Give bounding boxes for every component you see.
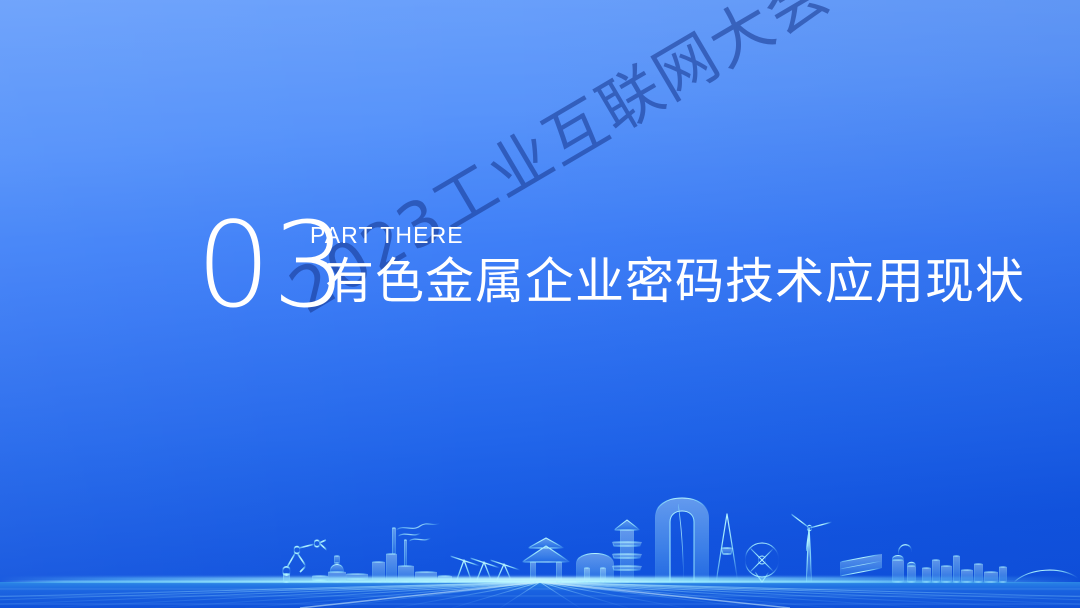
pagoda-icon [612, 512, 642, 582]
city-skyline-scene [0, 488, 1080, 608]
storage-tank-icon [892, 545, 916, 582]
gate-of-the-orient-icon [655, 498, 709, 582]
horizon-line [0, 581, 1080, 583]
bridge-icon [1014, 568, 1078, 582]
pavilion-icon [522, 538, 570, 582]
section-headline-block: 03 PART THERE 有色金属企业密码技术应用现状 [196, 206, 956, 316]
factory-icon [372, 523, 452, 582]
solar-panel-icon [840, 554, 882, 582]
oil-pumpjack-icon [450, 556, 520, 582]
section-title: 有色金属企业密码技术应用现状 [325, 255, 1025, 310]
tv-tower-icon [716, 500, 738, 582]
pipe-valve-icon [312, 556, 368, 582]
ferris-wheel-icon [745, 543, 779, 582]
part-label: PART THERE [310, 224, 464, 247]
wind-turbine-icon [791, 514, 832, 582]
dome-icon [576, 554, 614, 583]
city-buildings-icon [922, 556, 1007, 582]
presentation-slide: 2023工业互联网大会 03 PART THERE 有色金属企业密码技术应用现状 [0, 0, 1080, 608]
